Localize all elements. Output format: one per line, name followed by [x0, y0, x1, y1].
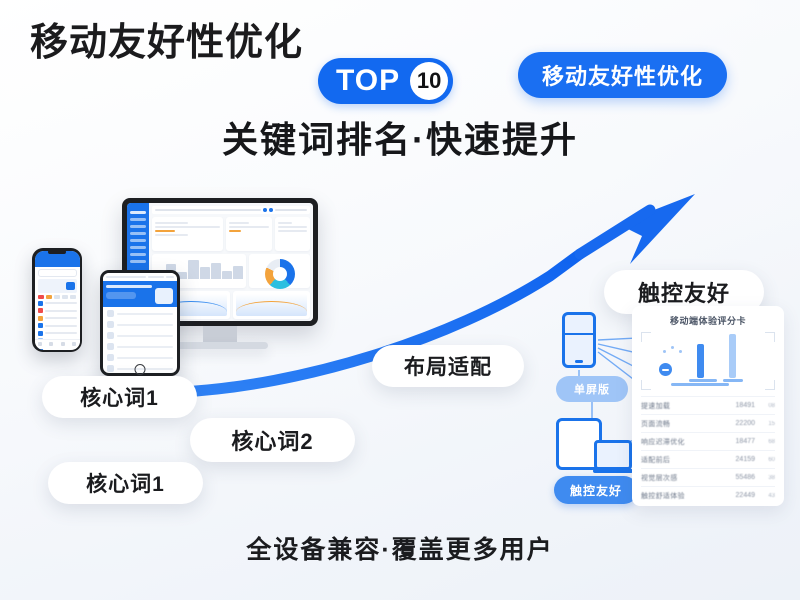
scorecard-row: 响应迟滞优化 18477 68	[641, 432, 775, 450]
page-title: 移动友好性优化	[30, 24, 303, 62]
phone-screen	[35, 251, 80, 350]
row-value: 18477	[736, 438, 755, 445]
phone-tabbar	[35, 339, 80, 349]
row-value: 22200	[736, 420, 755, 427]
scorecard-row: 页面流畅 22200 15	[641, 414, 775, 432]
row-name: 视觉层次感	[641, 473, 730, 483]
annotation-layout-pill[interactable]: 布局适配	[372, 345, 524, 387]
scorecard-title: 移动端体验评分卡	[641, 314, 775, 327]
row-delta: 38	[761, 475, 775, 481]
scorecard-bubble-icon	[659, 363, 672, 376]
tablet-home-button	[135, 364, 146, 375]
scorecard-row: 提速加载 18491 08	[641, 396, 775, 414]
row-value: 22449	[736, 492, 755, 499]
phone-notch	[48, 250, 66, 254]
row-name: 触控舒适体验	[641, 491, 730, 501]
tag-pill: 移动友好性优化	[518, 52, 727, 98]
phone-category-chips	[38, 295, 77, 299]
experience-scorecard: 移动端体验评分卡 提速加载 18491 08 页面流畅	[632, 306, 784, 506]
scorecard-row: 视觉层次感 55486 38	[641, 468, 775, 486]
phone-mockup	[32, 248, 82, 352]
page-subtitle: 关键词排名·快速提升	[0, 122, 800, 158]
diagram-laptop-icon	[594, 440, 632, 470]
scorecard-row: 适配前后 24159 60	[641, 450, 775, 468]
keyword-pill[interactable]: 核心词1	[42, 376, 197, 418]
row-name: 适配前后	[641, 455, 730, 465]
top-rank-badge: TOP 10	[318, 58, 453, 104]
phone-banner	[38, 279, 77, 293]
phone-search-bar	[38, 269, 77, 277]
diagram-chip-bottom: 触控友好	[554, 476, 638, 504]
row-delta: 08	[761, 403, 775, 409]
row-name: 提速加载	[641, 401, 730, 411]
poster-canvas: 移动友好性优化 TOP 10 移动友好性优化 关键词排名·快速提升	[0, 0, 800, 600]
row-value: 18491	[736, 402, 755, 409]
scorecard-chart	[641, 332, 775, 390]
keyword-pill[interactable]: 核心词2	[190, 418, 355, 462]
top-badge-number: 10	[410, 62, 448, 100]
device-relation-diagram: 单屏版 触控友好 移动端体验评分卡 提速加载 18491	[548, 300, 792, 515]
row-name: 响应迟滞优化	[641, 437, 730, 447]
row-delta: 43	[761, 493, 775, 499]
row-name: 页面流畅	[641, 419, 730, 429]
row-value: 24159	[736, 456, 755, 463]
diagram-chip-top: 单屏版	[556, 376, 628, 402]
row-value: 55486	[736, 474, 755, 481]
scorecard-row: 触控舒适体验 22449 43	[641, 486, 775, 504]
row-delta: 60	[761, 457, 775, 463]
keyword-pill[interactable]: 核心词1	[48, 462, 203, 504]
row-delta: 68	[761, 439, 775, 445]
diagram-phone-icon	[562, 312, 596, 368]
top-badge-word: TOP	[336, 66, 410, 96]
row-delta: 15	[761, 421, 775, 427]
footer-tagline: 全设备兼容·覆盖更多用户	[0, 530, 800, 566]
